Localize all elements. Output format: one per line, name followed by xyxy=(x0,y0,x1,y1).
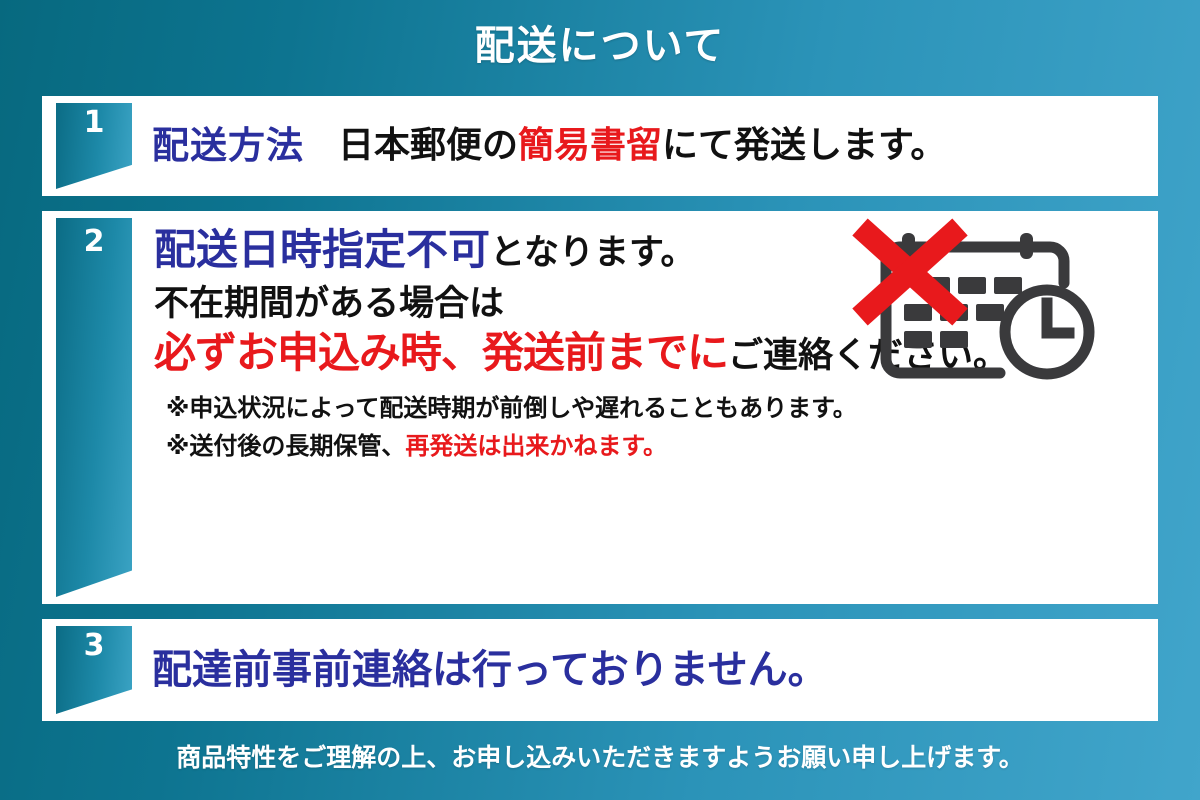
step-badge-3: 3 xyxy=(56,626,132,714)
notice-card-1-body: 配送方法 日本郵便の簡易書留にて発送します。 xyxy=(132,96,1158,196)
notice-card-2-body: 配送日時指定不可となります。 不在期間がある場合は 必ずお申込み時、発送前までに… xyxy=(132,211,1158,604)
step-badge-2: 2 xyxy=(56,218,132,597)
shipping-method-detail-post: にて発送します。 xyxy=(662,125,946,166)
shipping-method-detail-emphasis: 簡易書留 xyxy=(518,125,662,166)
notice-card-3: 3 配達前事前連絡は行っておりません。 xyxy=(42,619,1158,721)
calendar-clock-prohibited-icon xyxy=(842,217,1132,392)
date-designation-tail: となります。 xyxy=(490,233,695,273)
shipping-method-detail-pre: 日本郵便の xyxy=(338,125,518,166)
step-badge-1: 1 xyxy=(56,103,132,189)
note-line-1: ※申込状況によって配送時期が前倒しや遅れることもあります。 xyxy=(154,396,1158,420)
note-line-2-emphasis: 再発送は出来かねます。 xyxy=(405,432,667,460)
notice-card-list: 1 配送方法 日本郵便の簡易書留にて発送します。 2 配送日時指定不可となります… xyxy=(42,96,1158,721)
note-line-2-pre: ※送付後の長期保管、 xyxy=(166,432,405,460)
step-number-3: 3 xyxy=(56,630,132,662)
contact-request-emphasis: 必ずお申込み時、発送前までに xyxy=(154,328,728,377)
badge-trapezoid-shape xyxy=(56,218,132,597)
page-title: 配送について xyxy=(0,0,1200,66)
notice-card-3-body: 配達前事前連絡は行っておりません。 xyxy=(132,619,1158,721)
shipping-method-heading: 配送方法 xyxy=(152,126,304,167)
footer-note: 商品特性をご理解の上、お申し込みいただきますようお願い申し上げます。 xyxy=(0,738,1200,774)
notice-card-1: 1 配送方法 日本郵便の簡易書留にて発送します。 xyxy=(42,96,1158,196)
shipping-method-detail: 日本郵便の簡易書留にて発送します。 xyxy=(338,126,946,166)
date-designation-emphasis: 配送日時指定不可 xyxy=(154,225,490,274)
no-advance-contact-heading: 配達前事前連絡は行っておりません。 xyxy=(152,648,828,692)
notice-card-2: 2 配送日時指定不可となります。 不在期間がある場合は 必ずお申込み時、発送前ま… xyxy=(42,211,1158,604)
step-number-1: 1 xyxy=(56,107,132,139)
step-number-2: 2 xyxy=(56,226,132,258)
note-line-2: ※送付後の長期保管、再発送は出来かねます。 xyxy=(154,434,1158,458)
